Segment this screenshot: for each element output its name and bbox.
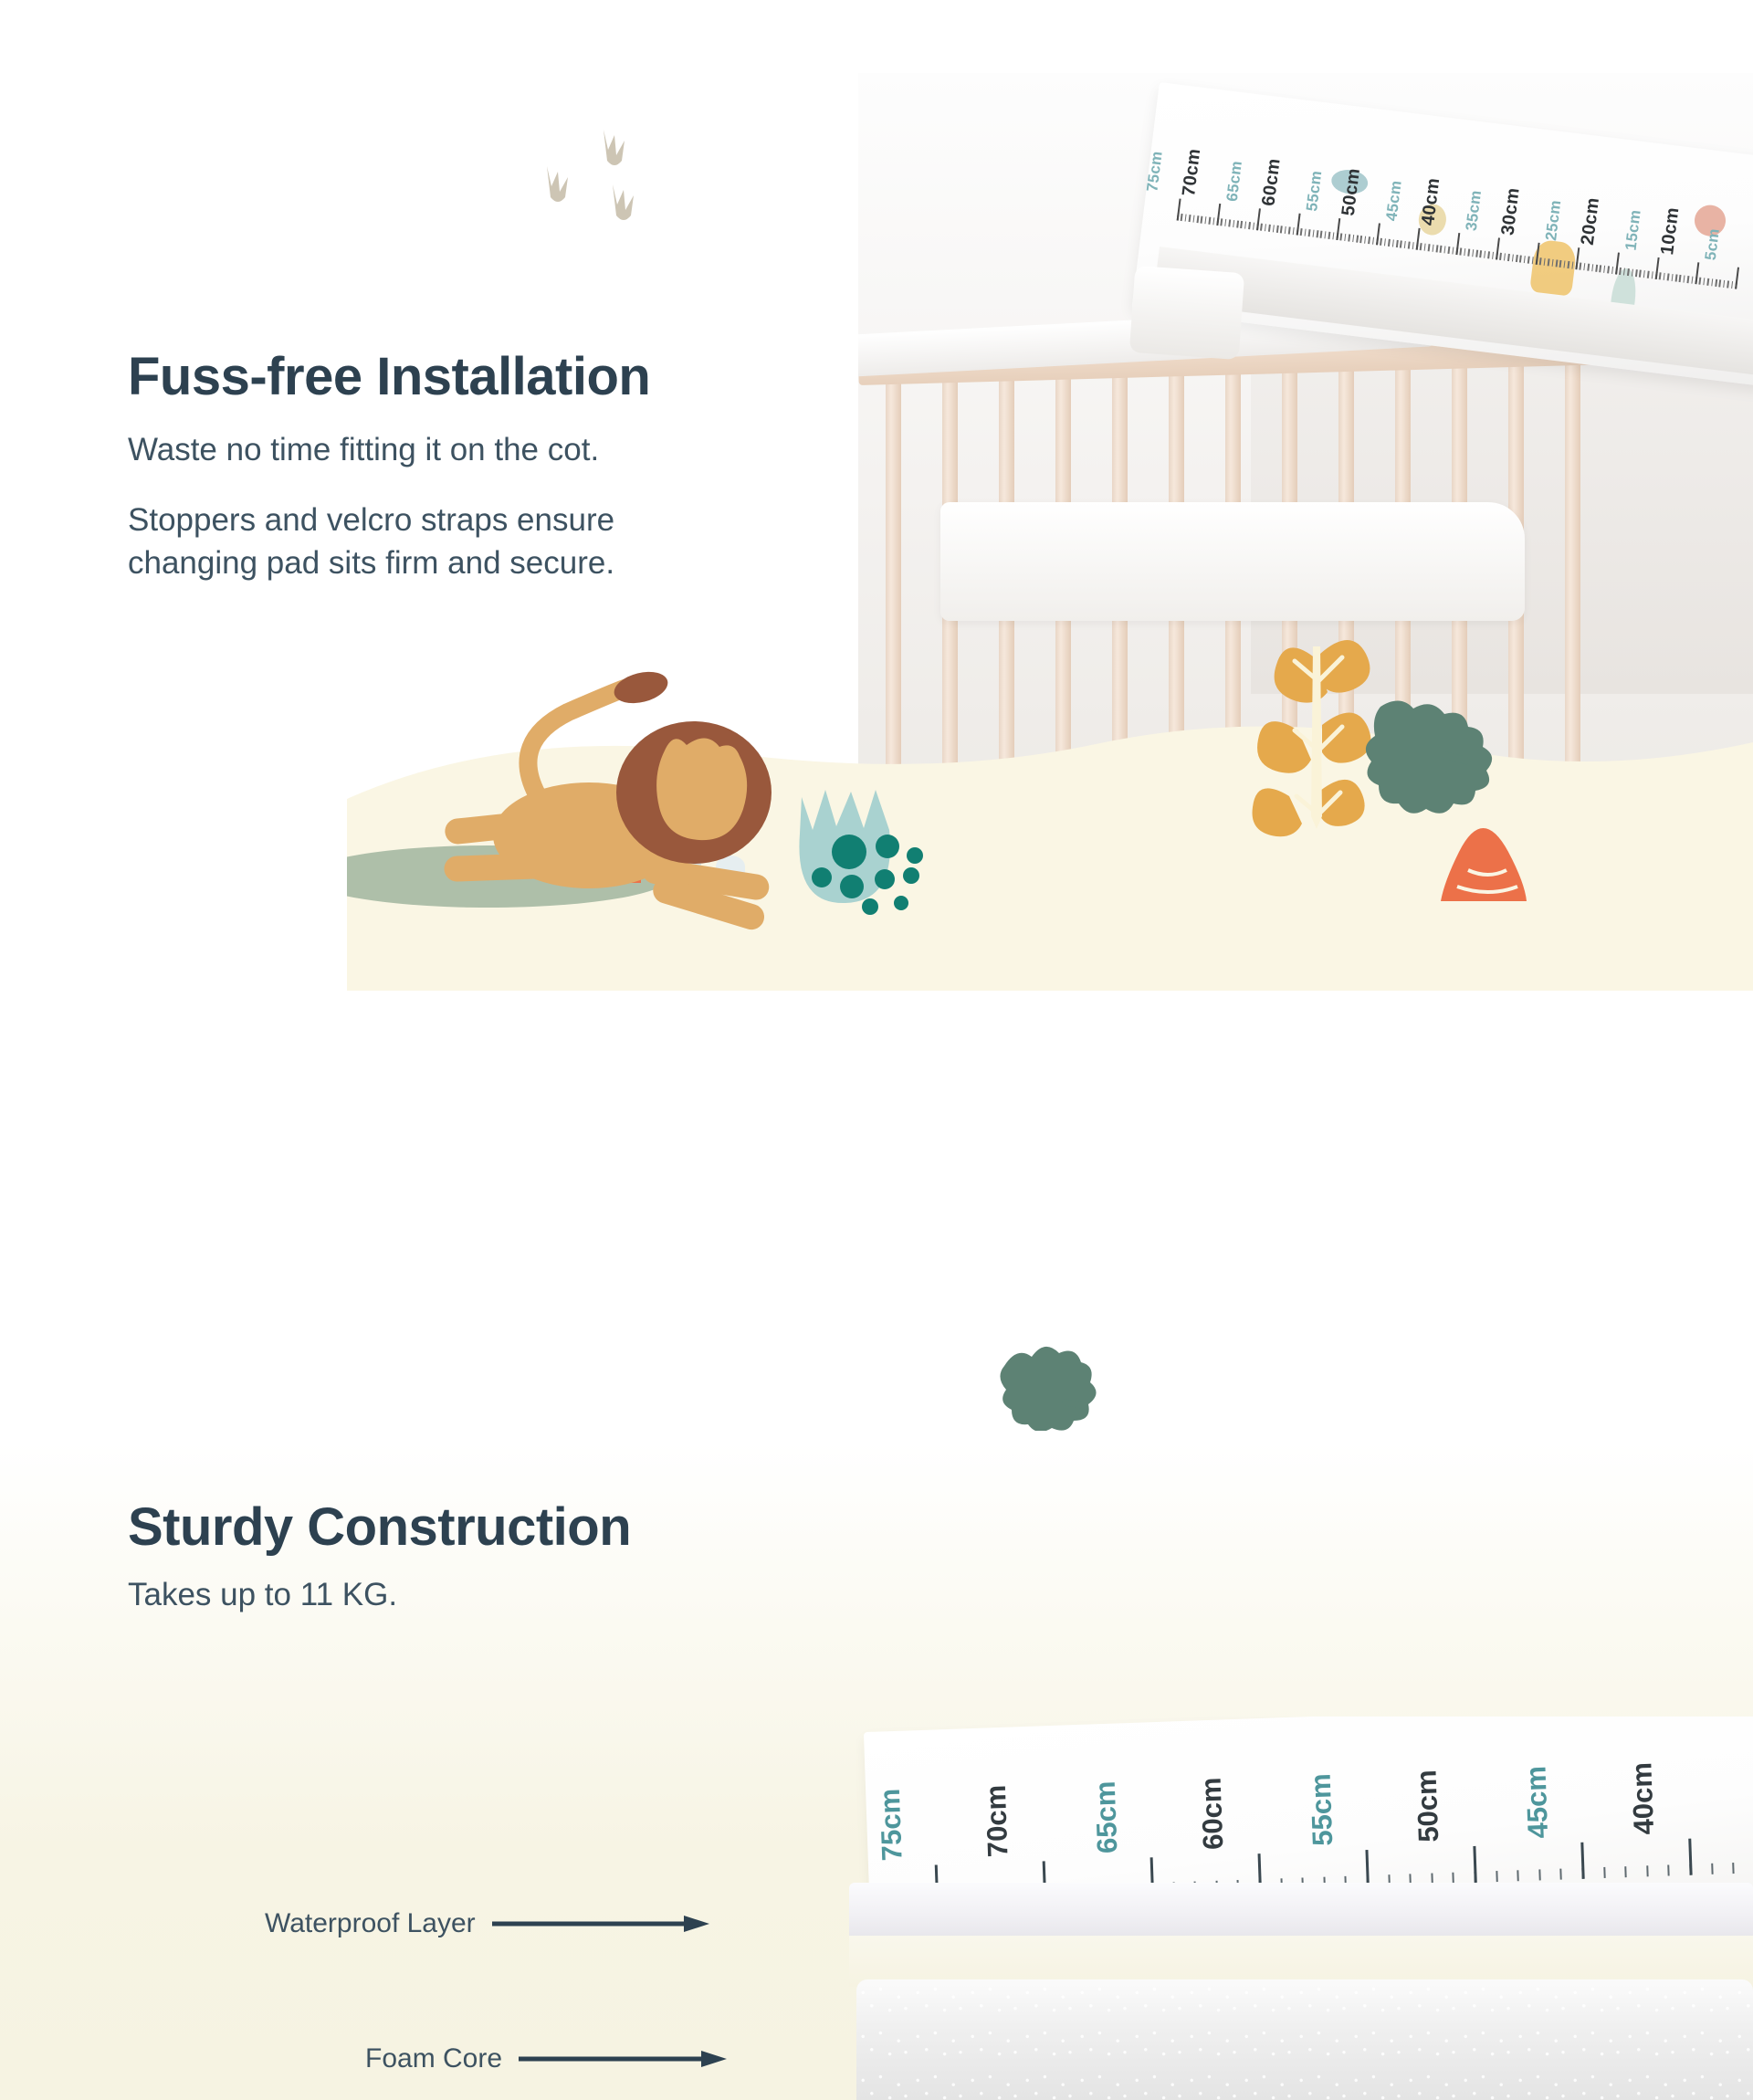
ruler-tick-minor (1512, 254, 1514, 261)
ruler-tick-minor (1400, 240, 1401, 247)
ruler-tick-minor (1679, 275, 1681, 282)
ruler-tick-minor (1288, 226, 1290, 234)
ruler-tick-minor (1420, 243, 1422, 250)
ruler-tick-minor (1668, 1864, 1670, 1875)
ruler-label: 45cm (1382, 179, 1405, 222)
ruler-tick-minor (1372, 237, 1374, 245)
ruler-tick-minor (1368, 236, 1370, 244)
ruler-tick-minor (1440, 246, 1442, 253)
ruler-tick-minor (1308, 229, 1310, 236)
ruler-tick-major (1473, 1846, 1476, 1883)
ruler-tick-minor (1727, 280, 1728, 288)
ruler-tick-minor (1703, 278, 1705, 285)
ruler-tick-minor (1731, 281, 1733, 289)
ruler-tick-minor (1300, 228, 1302, 236)
body-line-stoppers-velcro-a: Stoppers and velcro straps ensure (128, 499, 876, 541)
ruler-tick-minor (1340, 233, 1342, 240)
ruler-label: 70cm (1179, 147, 1205, 197)
ruler-tick-minor (1632, 269, 1633, 277)
heading-fuss-free-installation: Fuss-free Installation (128, 347, 876, 408)
ruler-tick-minor (1591, 264, 1593, 271)
ruler-tick-minor (1380, 238, 1381, 246)
ruler-tick-minor (1253, 223, 1254, 230)
ruler-tick-minor (1627, 268, 1629, 276)
ruler-label: 60cm (1195, 1777, 1231, 1851)
ruler-tick-minor (1244, 222, 1246, 229)
ruler-label: 55cm (1303, 170, 1326, 213)
ruler-label: 40cm (1625, 1762, 1661, 1836)
ruler-label: 10cm (1657, 206, 1684, 257)
ruler-tick-minor (1312, 230, 1314, 237)
ruler-tick-minor (1241, 221, 1243, 228)
ruler-tick-minor (1260, 224, 1262, 231)
ruler-tick-minor (1472, 249, 1474, 257)
ruler-tick-minor (1233, 220, 1234, 227)
text-block-installation: Fuss-free Installation Waste no time fit… (128, 347, 876, 584)
heading-sturdy-construction: Sturdy Construction (128, 1497, 950, 1559)
sage-monstera-leaf-icon (1000, 1347, 1096, 1431)
ruler-tick-minor (1595, 265, 1597, 272)
ruler-tick-minor (1460, 247, 1462, 255)
ruler-tick-minor (1587, 264, 1589, 271)
arrow-right-icon (476, 1913, 713, 1935)
ruler-tick-minor (1428, 244, 1430, 251)
ruler-label: 50cm (1410, 1769, 1445, 1843)
ruler-tick-minor (1639, 270, 1641, 278)
ruler-tick-minor (1504, 253, 1506, 260)
ruler-tick-minor (1623, 268, 1625, 275)
ruler-tick-minor (1236, 220, 1238, 227)
ruler-tick-minor (1715, 279, 1716, 287)
ruler-tick-minor (1531, 257, 1533, 264)
ruler-tick-minor (1320, 231, 1322, 238)
ruler-tick-minor (1539, 257, 1541, 265)
ruler-tick-minor (1499, 253, 1501, 260)
ruler-tick-minor (1580, 263, 1581, 270)
ruler-tick-minor (1687, 276, 1689, 283)
ruler-tick-minor (1480, 250, 1482, 257)
ruler-tick-minor (1556, 259, 1558, 267)
body-line-fit-on-cot: Waste no time fitting it on the cot. (128, 428, 876, 471)
callout-waterproof-layer: Waterproof Layer (265, 1908, 713, 1939)
ruler-tick-minor (1699, 278, 1701, 285)
lion-tail-tuft (611, 667, 671, 709)
ruler-tick-minor (1675, 274, 1677, 281)
ruler-label: 35cm (1463, 189, 1485, 232)
ruler-tick-minor (1280, 226, 1282, 233)
ruler-label: 25cm (1542, 199, 1565, 242)
ruler-tick-minor (1663, 273, 1664, 280)
ruler-label: 55cm (1305, 1773, 1340, 1847)
ruler-tick-minor (1548, 258, 1549, 266)
lion-illustration (429, 657, 813, 959)
ruler-tick-minor (1563, 260, 1565, 268)
ruler-tick-minor (1551, 259, 1553, 267)
callout-foam-core: Foam Core (365, 2043, 730, 2074)
ruler-label: 65cm (1223, 160, 1246, 203)
ruler-tick-minor (1571, 261, 1573, 268)
ruler-tick-minor (1651, 271, 1653, 278)
ruler-tick-minor (1711, 1864, 1713, 1874)
ruler-tick-minor (1197, 215, 1199, 223)
ruler-tick-major (1735, 268, 1739, 289)
ruler-tick-minor (1519, 256, 1521, 263)
ruler-label: 60cm (1258, 157, 1285, 207)
ruler-tick-minor (1619, 268, 1621, 275)
body-line-weight-capacity: Takes up to 11 KG. (128, 1573, 950, 1616)
changing-pad-layers-photo: 75cm 70cm 65cm 60cm 55cm 50cm 45cm 40cm (849, 1717, 1753, 2100)
ruler-tick-minor (1524, 256, 1526, 263)
ruler-tick-minor (1328, 232, 1330, 239)
ruler-tick-minor (1248, 222, 1250, 229)
callout-label-waterproof: Waterproof Layer (265, 1908, 476, 1939)
ruler-tick-minor (1560, 1869, 1562, 1880)
body-line-stoppers-velcro-b: changing pad sits firm and secure. (128, 541, 876, 584)
ruler-tick-minor (1475, 250, 1477, 257)
ruler-tick-minor (1201, 216, 1202, 224)
ruler-tick-minor (1209, 217, 1211, 225)
ruler-tick-minor (1453, 1873, 1454, 1884)
ruler-tick-minor (1607, 266, 1609, 273)
ruler-tick-minor (1723, 280, 1725, 288)
ruler-tick-minor (1543, 258, 1545, 266)
ruler-tick-minor (1603, 1867, 1605, 1878)
ruler-tick-minor (1443, 246, 1445, 253)
ruler-label: 75cm (1143, 150, 1166, 193)
ruler-tick-minor (1683, 276, 1685, 283)
changing-pad-end-cap (1129, 266, 1244, 360)
ruler-label: 5cm (1702, 227, 1724, 261)
waterproof-layer-edge (849, 1883, 1753, 1941)
ruler-tick-minor (1492, 252, 1494, 259)
footprint-icon (547, 166, 568, 202)
ruler-tick-minor (1192, 215, 1194, 223)
ruler-label: 40cm (1418, 177, 1444, 227)
ruler-tick-minor (1484, 251, 1485, 258)
ruler-tick-minor (1667, 273, 1669, 280)
ruler-tick-major (1688, 1839, 1692, 1875)
sage-leaf-decoration (988, 1335, 1097, 1431)
ruler-label: 15cm (1622, 209, 1644, 252)
foam-core-layer (856, 1979, 1753, 2100)
ruler-tick-minor (1568, 261, 1569, 268)
ruler-tick-minor (1384, 238, 1386, 246)
ruler-tick-minor (1538, 1869, 1540, 1880)
ruler-tick-minor (1356, 236, 1358, 243)
product-feature-page: 75cm 70cm 65cm 60cm 55cm 50cm 45cm 40cm … (0, 0, 1753, 2100)
ruler-tick-minor (1719, 279, 1721, 287)
ruler-tick-minor (1643, 270, 1645, 278)
ruler-tick-minor (1611, 267, 1613, 274)
ruler-tick-minor (1276, 226, 1278, 233)
ruler-tick-minor (1487, 251, 1489, 258)
ruler-tick-minor (1603, 266, 1605, 273)
ruler-tick-minor (1352, 235, 1354, 242)
ruler-tick-minor (1423, 244, 1425, 251)
ruler-tick-minor (1467, 249, 1469, 257)
body-line-stoppers-velcro: Stoppers and velcro straps ensure changi… (128, 499, 876, 585)
ruler-tick-minor (1517, 1870, 1519, 1881)
section-sturdy-construction: Sturdy Construction Takes up to 11 KG. 7… (0, 1443, 1753, 2100)
footprint-icon (604, 130, 625, 165)
ruler-tick-minor (1647, 271, 1649, 278)
ruler-tick-minor (1507, 254, 1509, 261)
ruler-tick-minor (1600, 265, 1601, 272)
ruler-tick-minor (1204, 216, 1206, 224)
ruler-tick-minor (1317, 230, 1318, 237)
ruler-tick-minor (1344, 234, 1346, 241)
ruler-tick-major (1580, 1843, 1584, 1879)
ruler-tick-minor (1706, 278, 1708, 286)
ruler-tick-minor (1635, 269, 1637, 277)
ruler-tick-minor (1412, 242, 1413, 249)
ruler-tick-minor (1432, 245, 1433, 252)
ruler-tick-minor (1691, 277, 1693, 284)
ruler-tick-minor (1348, 234, 1349, 241)
ruler-tick-minor (1364, 236, 1366, 244)
ruler-tick-minor (1516, 255, 1517, 262)
plant-cluster-decoration (1242, 593, 1516, 867)
ruler-tick-minor (1181, 214, 1182, 221)
ruler-tick-minor (1646, 1865, 1648, 1876)
ruler-tick-minor (1448, 247, 1450, 254)
ruler-label: 45cm (1519, 1766, 1555, 1840)
sage-monstera-leaf-icon (1366, 700, 1492, 813)
ruler-tick-minor (1388, 239, 1390, 247)
ruler-tick-minor (1671, 274, 1673, 281)
ruler-tick-minor (1436, 245, 1438, 252)
bird-footprints-decoration (534, 119, 698, 237)
ruler-label: 65cm (1089, 1780, 1125, 1854)
lion-face (656, 738, 747, 840)
ruler-tick-minor (1324, 231, 1326, 238)
arrow-right-icon (502, 2048, 730, 2070)
ruler-tick-minor (1189, 215, 1191, 222)
ruler-tick-minor (1184, 214, 1186, 221)
ruler-tick-minor (1268, 225, 1270, 232)
ruler-label: 50cm (1338, 167, 1365, 217)
ruler-tick-minor (1360, 236, 1362, 243)
lion-tail (528, 688, 625, 794)
ruler-tick-minor (1396, 240, 1398, 247)
ruler-tick-minor (1527, 257, 1529, 264)
ruler-tick-minor (1624, 1866, 1626, 1877)
ruler-tick-major (1365, 1850, 1369, 1886)
ruler-tick-minor (1272, 225, 1274, 232)
ruler-tick-minor (1212, 217, 1214, 225)
lion-back-leg (444, 853, 552, 882)
text-block-construction: Sturdy Construction Takes up to 11 KG. (128, 1497, 950, 1616)
ruler-tick-minor (1224, 219, 1226, 226)
ruler-tick-minor (1265, 224, 1266, 231)
ruler-tick-minor (1583, 263, 1585, 270)
ruler-tick-minor (1304, 229, 1306, 236)
ruler-tick-minor (1332, 232, 1334, 239)
ruler-tick-minor (1292, 227, 1294, 235)
ruler-tick-minor (1228, 219, 1230, 226)
ruler-tick-minor (1711, 278, 1713, 286)
ruler-tick-minor (1391, 239, 1393, 247)
ruler-tick-minor (1452, 247, 1454, 254)
ruler-tick-minor (1464, 248, 1465, 256)
ruler-label: 30cm (1497, 186, 1524, 236)
ruler-tick-minor (1732, 1863, 1734, 1874)
ruler-tick-minor (1496, 1871, 1497, 1882)
footprint-icon (613, 184, 634, 220)
ruler-tick-minor (1659, 272, 1661, 279)
ruler-label: 75cm (874, 1788, 909, 1862)
section-fuss-free-installation: 75cm 70cm 65cm 60cm 55cm 50cm 45cm 40cm … (0, 0, 1753, 1114)
ruler-tick-minor (1404, 241, 1406, 248)
ruler-label: 20cm (1578, 196, 1604, 247)
ruler-label: 70cm (980, 1784, 1015, 1858)
ruler-tick-minor (1408, 242, 1410, 249)
callout-label-foam-core: Foam Core (365, 2043, 502, 2074)
ruler-tick-minor (1221, 218, 1223, 226)
ruler-tick-minor (1285, 226, 1286, 234)
ruler-tick-minor (1559, 260, 1561, 268)
